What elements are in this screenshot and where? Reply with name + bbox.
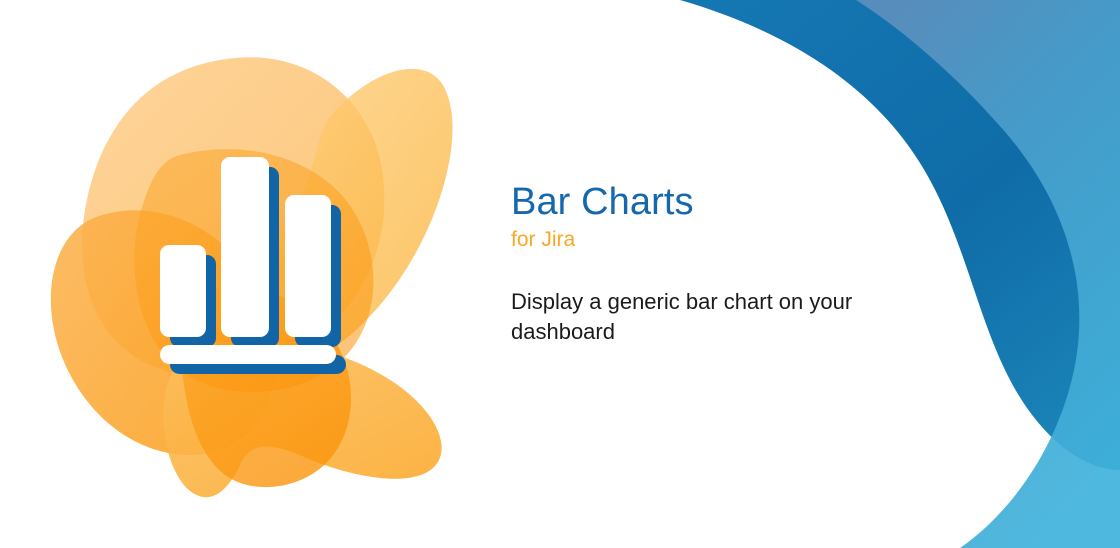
page-title: Bar Charts — [511, 180, 941, 224]
wave-layer-navy — [1029, 0, 1120, 300]
bar-chart-logo-graphic — [30, 45, 470, 505]
page-subtitle: for Jira — [511, 227, 941, 253]
app-banner: Bar Charts for Jira Display a generic ba… — [0, 0, 1120, 548]
bar-short-left — [160, 245, 206, 337]
bar-medium-right — [285, 195, 331, 337]
bar-tall-middle — [221, 157, 269, 337]
bar-chart-logo — [30, 45, 470, 505]
banner-text-block: Bar Charts for Jira Display a generic ba… — [511, 180, 941, 347]
page-description: Display a generic bar chart on your dash… — [511, 287, 896, 347]
chart-baseline — [160, 345, 336, 364]
